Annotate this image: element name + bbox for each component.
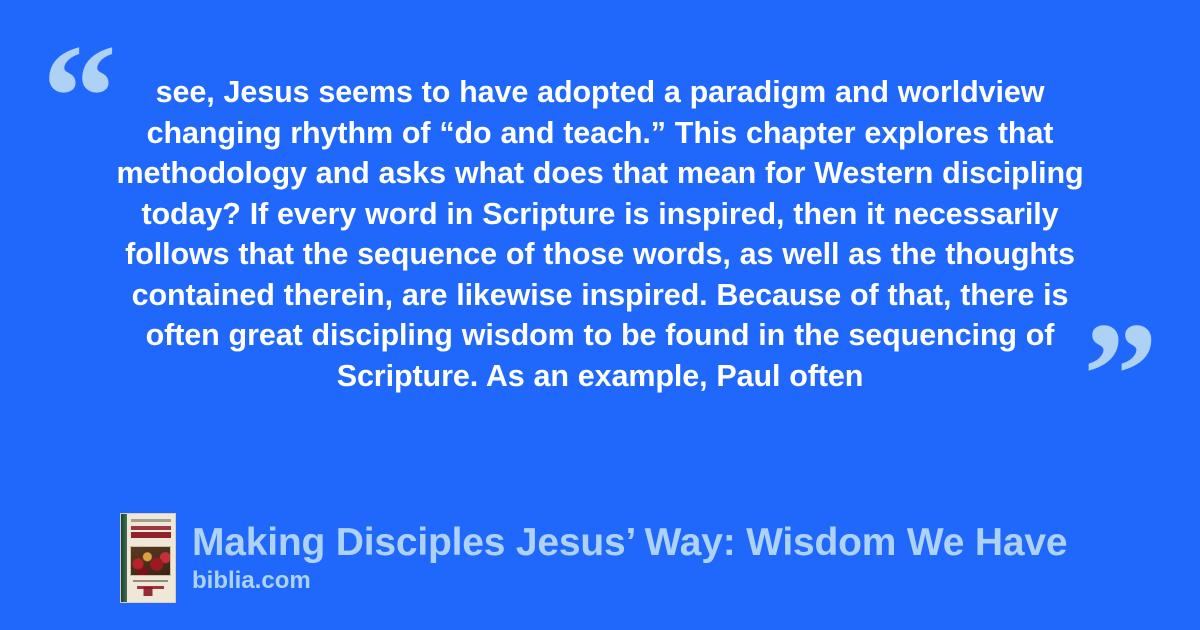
book-cover-subtitle-art: [133, 580, 168, 582]
book-title: Making Disciples Jesus’ Way: Wisdom We H…: [192, 520, 1182, 565]
closing-quote-icon: ”: [1083, 300, 1158, 450]
book-cover-title-art: [131, 526, 171, 542]
book-cover-header-art: [131, 519, 171, 522]
footer-text-group: Making Disciples Jesus’ Way: Wisdom We H…: [192, 520, 1182, 596]
footer: Making Disciples Jesus’ Way: Wisdom We H…: [120, 512, 1182, 604]
book-cover-image: [120, 513, 176, 603]
quote-text: see, Jesus seems to have adopted a parad…: [100, 72, 1100, 396]
book-cover-publisher-logo: [144, 587, 153, 596]
site-name: biblia.com: [192, 566, 1182, 596]
quote-card: “ see, Jesus seems to have adopted a par…: [0, 0, 1200, 630]
book-spine: [121, 514, 127, 602]
book-cover-photo-art: [130, 546, 171, 576]
